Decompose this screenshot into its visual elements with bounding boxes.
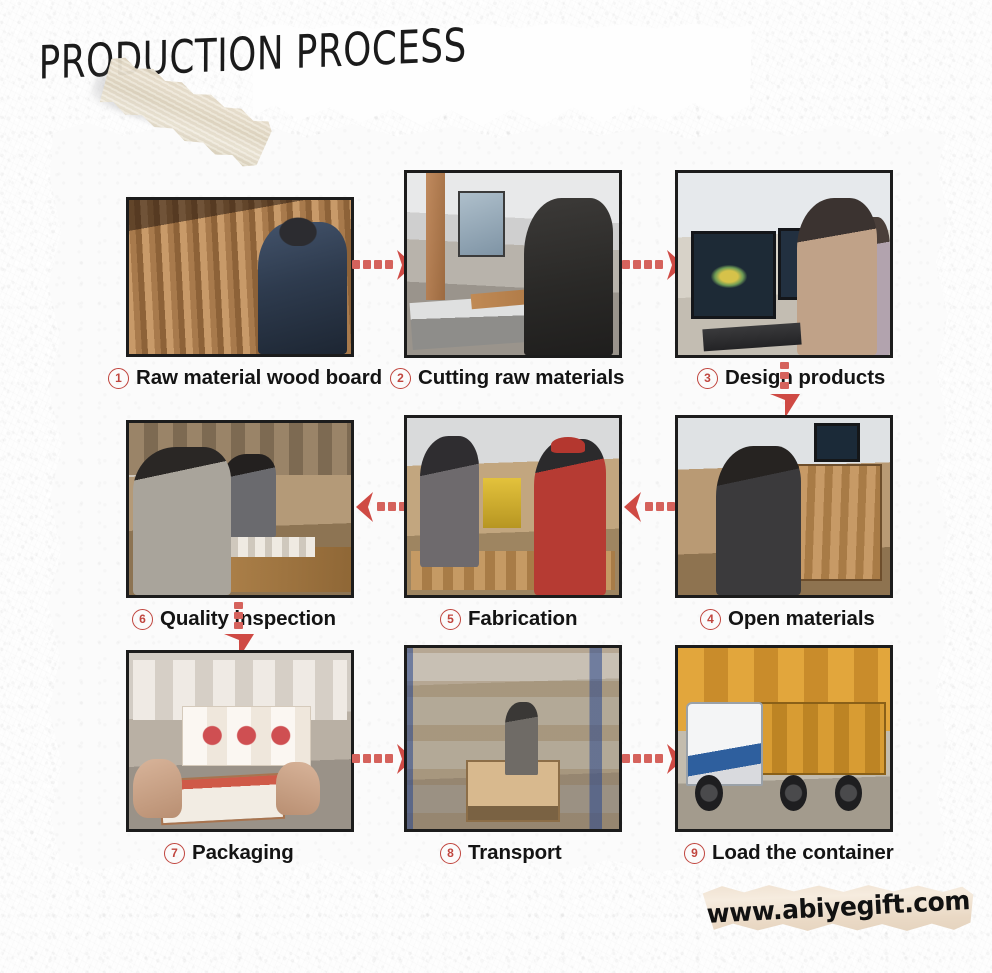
step-7-caption: 7 Packaging (164, 841, 294, 865)
step-8-label: Transport (468, 841, 562, 865)
container-scene-wheel-mid (780, 775, 808, 811)
step-9-number: 9 (684, 843, 705, 864)
warehouse-transport-photo (407, 648, 619, 829)
design-scene-monitor (691, 231, 776, 318)
step-1-caption: 1 Raw material wood board (108, 366, 382, 390)
page-title: PRODUCTION PROCESS (0, 0, 508, 123)
step-2-photo[interactable] (404, 170, 622, 358)
step-9-caption: 9 Load the container (684, 841, 894, 865)
packaging-scene-hand-right (276, 762, 320, 815)
cutting-scene-worker (524, 198, 613, 355)
design-scene-designer (797, 198, 878, 355)
fabrication-scene-machine (483, 478, 521, 528)
step-5-caption: 5 Fabrication (440, 607, 577, 631)
container-loading-photo (678, 648, 890, 829)
packaging-scene-bags (182, 706, 311, 766)
packaging-photo (129, 653, 351, 829)
step-8-photo[interactable] (404, 645, 622, 832)
step-2-label: Cutting raw materials (418, 366, 624, 390)
fabrication-scene-worker-left (420, 436, 479, 567)
cad-design-photo (678, 173, 890, 355)
step-1-photo[interactable] (126, 197, 354, 357)
packaging-scene-hand-left (133, 759, 182, 819)
website-url-text: www.abiyegift.com (706, 886, 971, 930)
step-4-photo[interactable] (675, 415, 893, 598)
cutting-machine-photo (407, 173, 619, 355)
step-4-caption: 4 Open materials (700, 607, 875, 631)
step-9-label: Load the container (712, 841, 894, 865)
step-7-label: Packaging (192, 841, 294, 865)
quality-scene-inspector (133, 447, 231, 595)
open-materials-photo (678, 418, 890, 595)
cutting-scene-window (458, 191, 505, 257)
arrow-down-icon (768, 362, 802, 420)
step-3-number: 3 (697, 368, 718, 389)
step-3-label: Design products (725, 366, 885, 390)
step-2-number: 2 (390, 368, 411, 389)
step-7-number: 7 (164, 843, 185, 864)
step-5-photo[interactable] (404, 415, 622, 598)
fabrication-scene-red-cap (551, 437, 585, 453)
step-7-photo[interactable] (126, 650, 354, 832)
step-1-label: Raw material wood board (136, 366, 382, 390)
step-5-label: Fabrication (468, 607, 577, 631)
container-scene-trailer (754, 702, 885, 774)
transport-scene-worker (505, 702, 539, 774)
container-scene-wheel-rear (835, 775, 863, 811)
step-6-number: 6 (132, 609, 153, 630)
container-scene-truck-cab (686, 702, 762, 785)
step-6-photo[interactable] (126, 420, 354, 598)
lumber-yard-photo (129, 200, 351, 354)
step-8-number: 8 (440, 843, 461, 864)
step-8-caption: 8 Transport (440, 841, 562, 865)
step-9-photo[interactable] (675, 645, 893, 832)
quality-inspection-photo (129, 423, 351, 595)
fabrication-photo (407, 418, 619, 595)
open-scene-worker (716, 446, 801, 595)
open-scene-monitor (814, 423, 861, 462)
step-1-number: 1 (108, 368, 129, 389)
step-2-caption: 2 Cutting raw materials (390, 366, 624, 390)
container-scene-wheel-front (695, 775, 723, 811)
open-scene-wood-box (797, 464, 882, 581)
cutting-scene-column (426, 173, 445, 300)
step-3-photo[interactable] (675, 170, 893, 358)
step-5-number: 5 (440, 609, 461, 630)
step-4-label: Open materials (728, 607, 875, 631)
fabrication-scene-worker-right (534, 439, 606, 595)
design-scene-keyboard (703, 323, 802, 352)
step-4-number: 4 (700, 609, 721, 630)
